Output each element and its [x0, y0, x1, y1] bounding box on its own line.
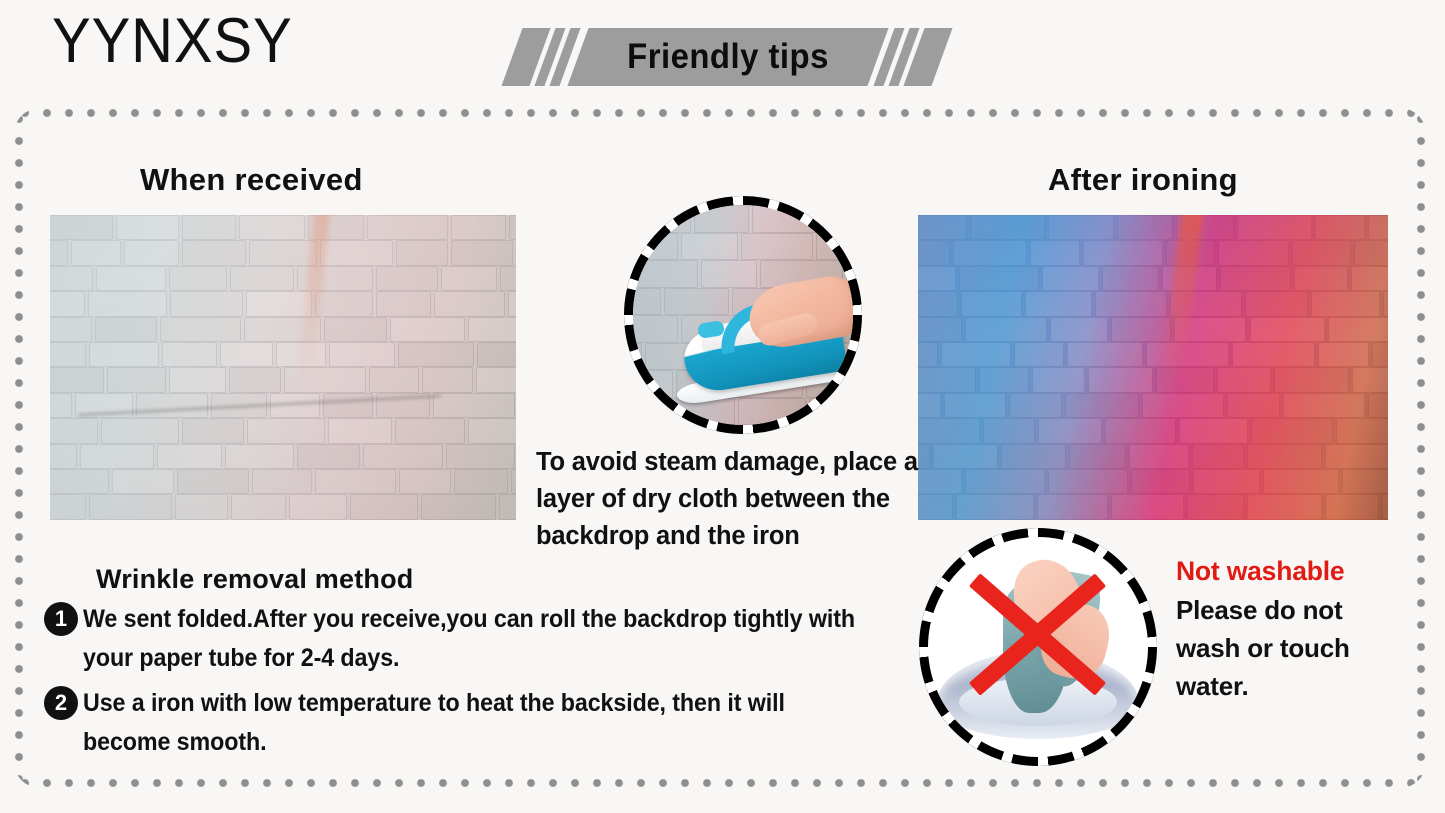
friendly-tips-banner: Friendly tips — [512, 28, 944, 86]
no-wash-icon — [919, 528, 1157, 766]
banner-title: Friendly tips — [525, 28, 931, 86]
wrinkle-step-1: 1 We sent folded.After you receive,you c… — [44, 600, 924, 678]
not-washable-title: Not washable — [1176, 556, 1344, 587]
brand-logo: YYNXSY — [52, 10, 293, 73]
red-x-icon — [954, 559, 1121, 704]
when-received-heading: When received — [140, 162, 363, 198]
backdrop-photo-when-received — [50, 215, 516, 520]
brick-color-wash-vivid — [918, 215, 1388, 520]
wrinkle-step-2: 2 Use a iron with low temperature to hea… — [44, 684, 924, 762]
iron-icon — [674, 279, 853, 399]
backdrop-photo-after-ironing — [918, 215, 1388, 520]
after-ironing-heading: After ironing — [1048, 162, 1238, 198]
iron-caption: To avoid steam damage, place a layer of … — [536, 444, 928, 555]
step-1-text: We sent folded.After you receive,you can… — [83, 600, 865, 678]
iron-illustration-circle — [624, 196, 862, 434]
step-2-text: Use a iron with low temperature to heat … — [83, 684, 865, 762]
no-wash-illustration — [928, 537, 1148, 757]
iron-circle-photo — [633, 205, 853, 425]
wrinkle-removal-title: Wrinkle removal method — [96, 564, 413, 595]
step-2-badge: 2 — [44, 686, 78, 720]
hand-fingers — [756, 310, 820, 348]
faded-overlay — [50, 215, 516, 520]
not-washable-body: Please do not wash or touch water. — [1176, 592, 1408, 706]
step-1-badge: 1 — [44, 602, 78, 636]
